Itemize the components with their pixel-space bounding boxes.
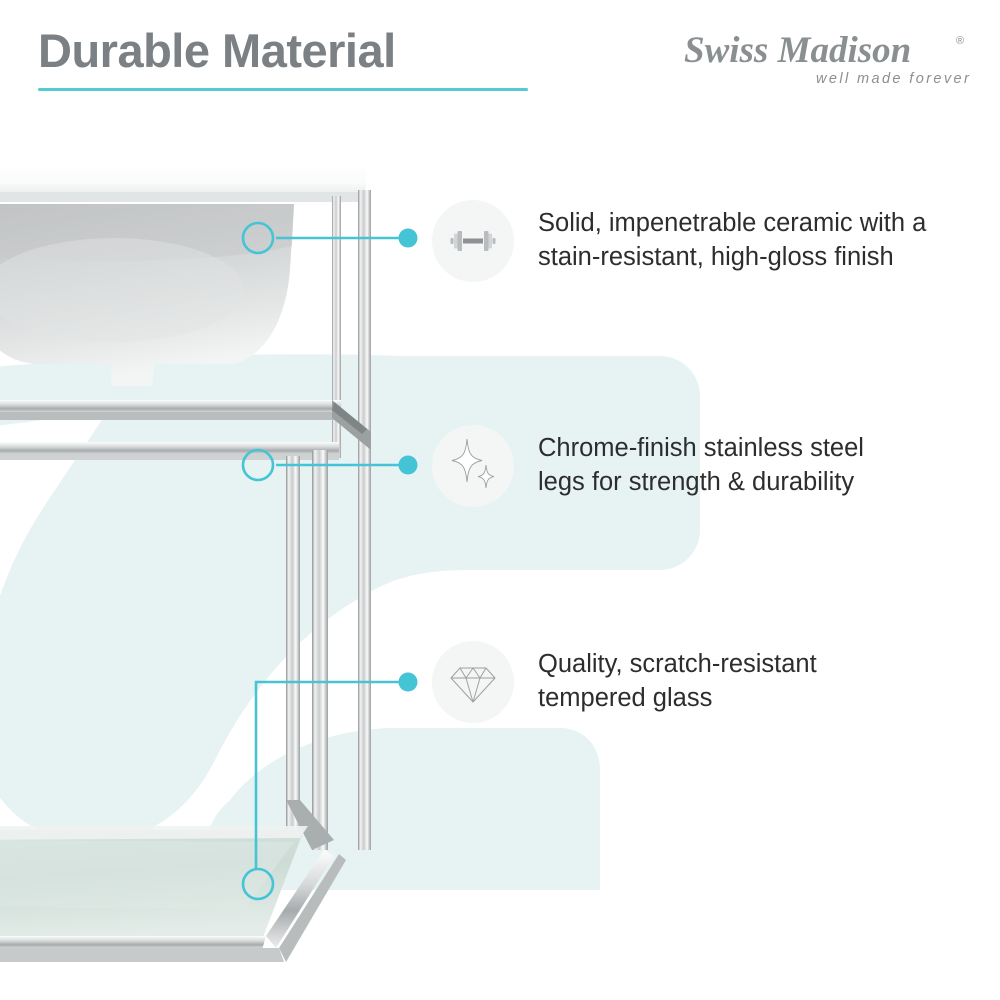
feature-1-icon-badge bbox=[432, 200, 514, 282]
product-glass-shelf bbox=[0, 826, 346, 962]
feature-2-text: Chrome-finish stainless steel legs for s… bbox=[538, 432, 864, 499]
title-underline bbox=[38, 88, 528, 91]
infographic-page: Durable Material Swiss Madison ® well ma… bbox=[0, 0, 1000, 1000]
feature-3-icon-badge bbox=[432, 641, 514, 723]
feature-1-text: Solid, impenetrable ceramic with a stain… bbox=[538, 207, 926, 274]
product-countertop bbox=[0, 160, 366, 202]
feature-3-text: Quality, scratch-resistant tempered glas… bbox=[538, 648, 817, 715]
feature-item-2: Chrome-finish stainless steel legs for s… bbox=[432, 425, 864, 507]
diamond-icon bbox=[447, 656, 499, 708]
product-photo bbox=[0, 150, 414, 1000]
dumbbell-icon bbox=[445, 213, 501, 269]
brand-logo: Swiss Madison ® well made forever bbox=[678, 26, 978, 92]
page-title: Durable Material bbox=[38, 27, 396, 74]
feature-item-1: Solid, impenetrable ceramic with a stain… bbox=[432, 200, 926, 282]
product-legs bbox=[286, 450, 371, 850]
feature-2-icon-badge bbox=[432, 425, 514, 507]
registered-mark-icon: ® bbox=[956, 35, 964, 47]
product-basin bbox=[0, 204, 294, 386]
feature-item-3: Quality, scratch-resistant tempered glas… bbox=[432, 641, 817, 723]
sparkle-icon bbox=[444, 437, 502, 495]
brand-name: Swiss Madison bbox=[684, 30, 911, 71]
brand-tagline: well made forever bbox=[816, 71, 971, 87]
